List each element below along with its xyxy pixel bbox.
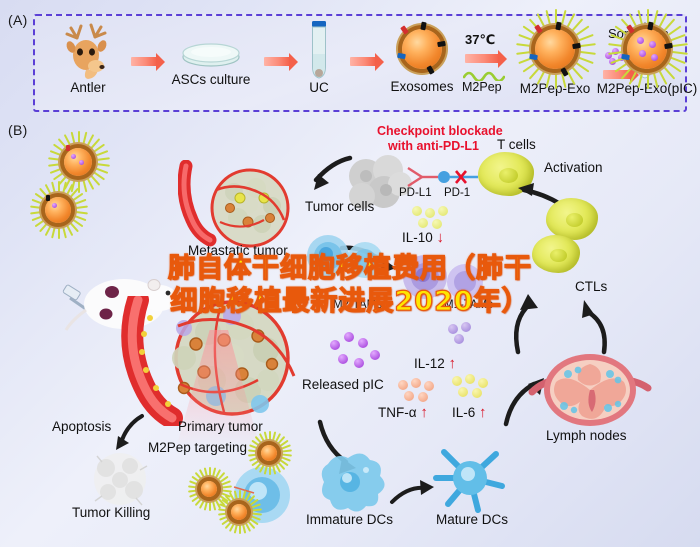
il12-label: IL-12 ↑ xyxy=(414,355,456,372)
exosome-pic-icon xyxy=(618,20,676,78)
arrow-uc-to-exosomes xyxy=(350,57,376,66)
panel-b-letter: (B) xyxy=(8,122,28,138)
scientific-figure: (A) Antler xyxy=(0,0,700,547)
arrow-exosomes-to-m2pepexo xyxy=(465,54,499,63)
primary-tumor-label: Primary tumor xyxy=(178,419,263,434)
immature-dcs-label: Immature DCs xyxy=(306,512,393,527)
protein-marker-dark xyxy=(426,65,434,74)
il10-label: IL-10 ↓ xyxy=(402,229,444,246)
arrow-ascs-to-uc xyxy=(264,57,290,66)
checkpoint-blockade-line1: Checkpoint blockade xyxy=(377,124,503,138)
panel-a-dashed-box: Antler ASCs culture xyxy=(33,14,687,112)
lymph-node-illustration xyxy=(528,348,652,439)
mature-dcs-label: Mature DCs xyxy=(436,512,508,527)
il12-trend-arrow: ↑ xyxy=(449,355,457,372)
arrow-antler-to-ascs xyxy=(131,57,157,66)
metastatic-tumor-label: Metastatic tumor xyxy=(188,243,288,258)
tnfa-text: TNF-α xyxy=(378,405,417,420)
il6-trend-arrow: ↑ xyxy=(479,404,487,421)
m2pep-label: M2Pep xyxy=(462,80,502,94)
temperature-label: 37℃ xyxy=(465,32,495,48)
tumor-killing-label: Tumor Killing xyxy=(72,505,150,520)
il6-text: IL-6 xyxy=(452,405,475,420)
nanoparticle-icon xyxy=(198,478,220,500)
step-antler-label: Antler xyxy=(49,80,127,95)
step-exosomes-label: Exosomes xyxy=(380,79,464,94)
nanoparticle-icon xyxy=(40,192,76,228)
deer-icon xyxy=(57,22,119,80)
m2pep-targeting-label: M2Pep targeting xyxy=(148,440,247,455)
il12-text: IL-12 xyxy=(414,356,445,371)
immature-dc-icon xyxy=(314,450,388,517)
protein-marker-dark xyxy=(437,41,446,47)
arrow-tumorcells-to-metastatic xyxy=(292,152,354,203)
step-uc: UC xyxy=(293,20,345,95)
step-antler: Antler xyxy=(49,22,127,95)
m1-tams-label: M1-TAMs xyxy=(444,299,493,311)
pd1-label: PD-1 xyxy=(444,187,470,199)
step-uc-label: UC xyxy=(293,80,345,95)
m2-tams-label: M2-TAMs xyxy=(333,299,382,311)
ctl-cell-icon xyxy=(546,198,598,240)
arrow-to-metastatic-tumor xyxy=(96,166,106,184)
il6-label: IL-6 ↑ xyxy=(452,404,487,421)
protein-marker-blue xyxy=(397,53,406,59)
step-ascs-label: ASCs culture xyxy=(163,72,259,87)
released-pic-label: Released pIC xyxy=(302,377,384,392)
t-cells-label: T cells xyxy=(497,137,536,152)
arrow-lymphnode-to-ctls xyxy=(500,290,560,361)
tnfa-label: TNF-α ↑ xyxy=(378,404,428,421)
exosome-peptide-icon xyxy=(526,20,584,78)
nanoparticle-icon xyxy=(228,501,250,523)
step-m2pep-exo-pic: M2Pep-Exo(pIC) xyxy=(587,18,700,96)
ctl-cell-icon xyxy=(532,235,580,273)
il10-trend-arrow: ↓ xyxy=(437,229,445,246)
mature-dc-icon xyxy=(428,442,512,519)
ctls-label: CTLs xyxy=(575,279,607,294)
apoptosis-label: Apoptosis xyxy=(52,419,111,434)
step-ascs-culture: ASCs culture xyxy=(163,32,259,87)
nanoparticle-icon xyxy=(258,442,280,464)
centrifuge-tube-icon xyxy=(309,20,329,78)
nanoparticle-icon xyxy=(58,142,98,182)
step-exosomes: Exosomes xyxy=(380,20,464,94)
lymph-nodes-label: Lymph nodes xyxy=(546,428,627,443)
pdl1-label: PD-L1 xyxy=(399,187,432,199)
petri-dish-icon xyxy=(181,42,241,68)
tnfa-trend-arrow: ↑ xyxy=(420,404,428,421)
m2-tam-cell-icon xyxy=(344,240,388,285)
checkpoint-blockade-line2: with anti-PD-L1 xyxy=(388,139,479,153)
arrow-lymphnode-to-ctls-2 xyxy=(556,296,618,361)
exosome-icon xyxy=(395,22,449,76)
panel-a-letter: (A) xyxy=(8,12,28,28)
